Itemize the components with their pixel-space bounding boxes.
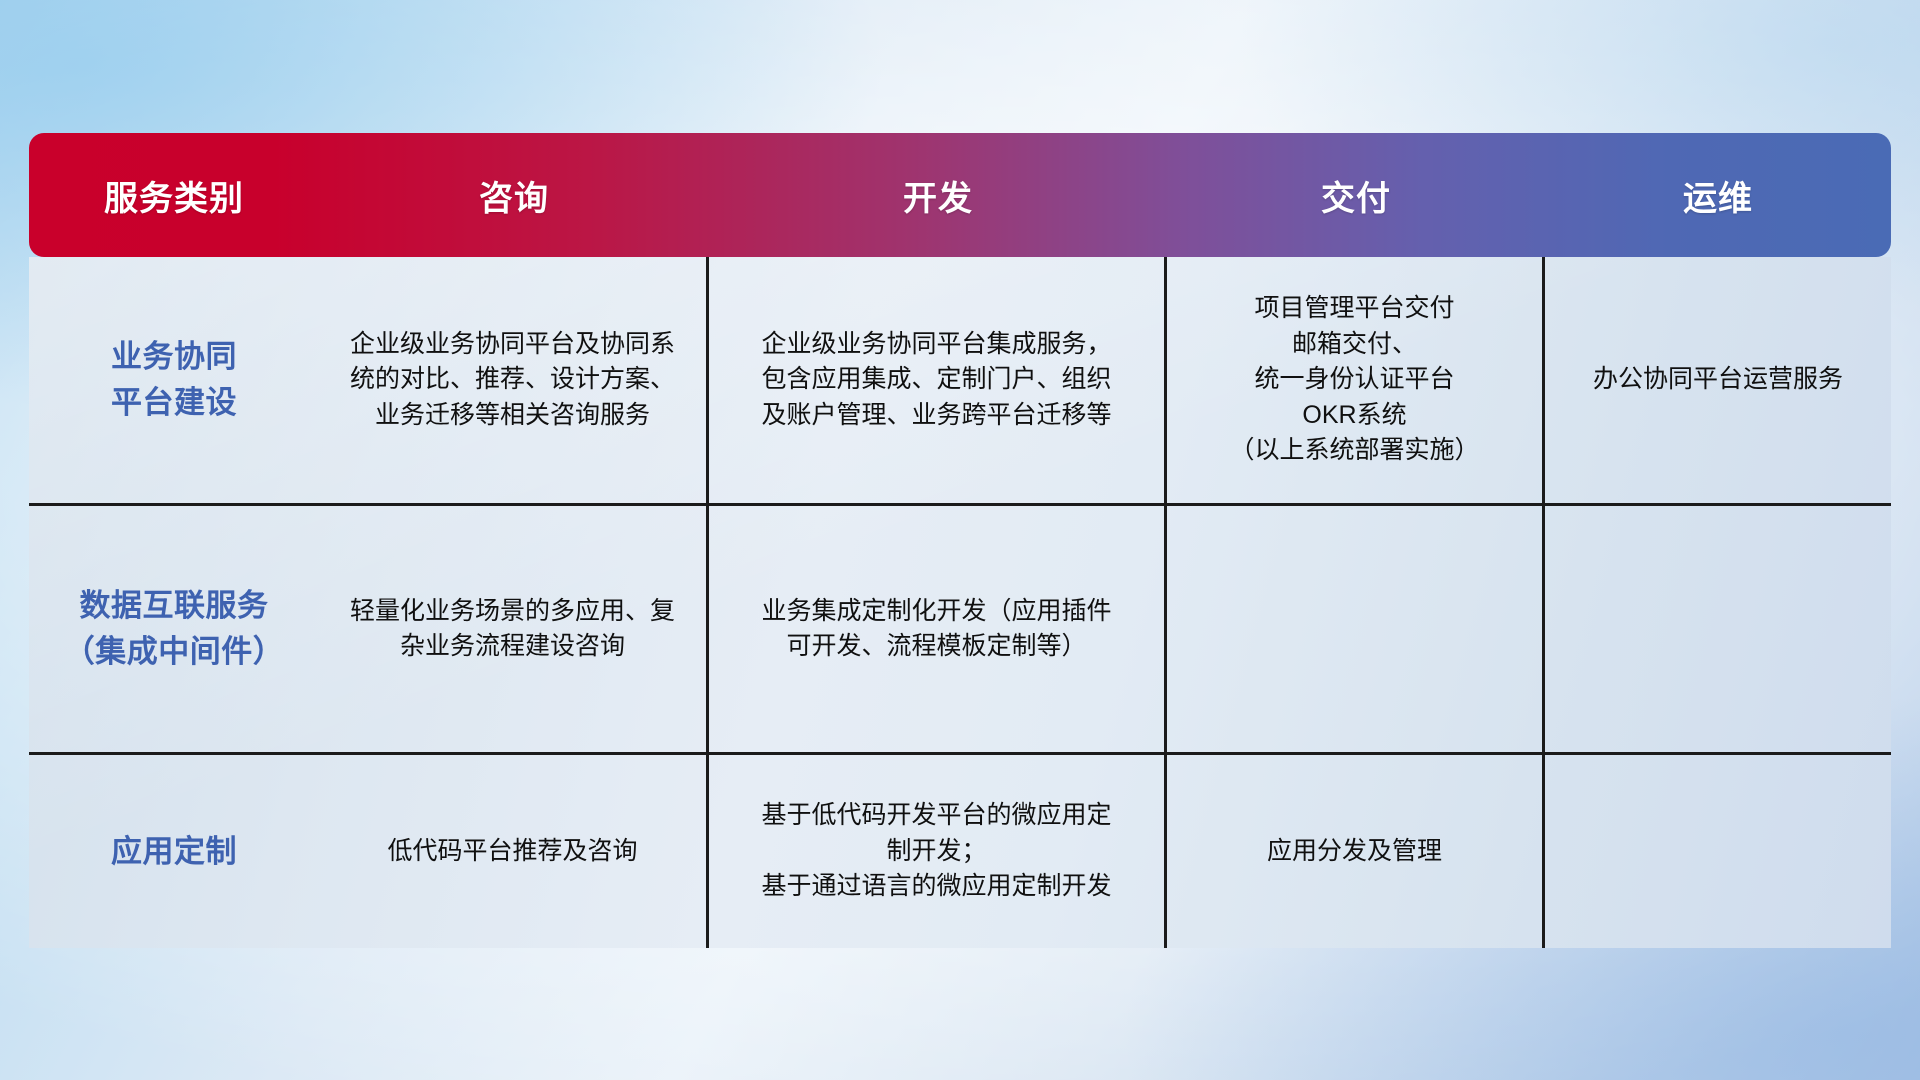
- row-label-cell: 应用定制: [29, 755, 319, 948]
- table-body: 业务协同 平台建设 企业级业务协同平台及协同系 统的对比、推荐、设计方案、 业务…: [29, 257, 1891, 948]
- cell-text: 低代码平台推荐及咨询: [387, 834, 637, 870]
- row-label-text: 业务协同 平台建设: [111, 334, 237, 426]
- cell-text: 办公协同平台运营服务: [1593, 362, 1843, 398]
- row-label-cell: 数据互联服务 （集成中间件）: [29, 506, 319, 752]
- cell-text: 业务集成定制化开发（应用插件 可开发、流程模板定制等）: [761, 594, 1111, 665]
- table-row: 业务协同 平台建设 企业级业务协同平台及协同系 统的对比、推荐、设计方案、 业务…: [29, 257, 1891, 506]
- cell-consulting: 企业级业务协同平台及协同系 统的对比、推荐、设计方案、 业务迁移等相关咨询服务: [319, 257, 709, 503]
- cell-development: 企业级业务协同平台集成服务， 包含应用集成、定制门户、组织 及账户管理、业务跨平…: [709, 257, 1167, 503]
- cell-text: 轻量化业务场景的多应用、复 杂业务流程建设咨询: [350, 594, 675, 665]
- cell-consulting: 低代码平台推荐及咨询: [319, 755, 709, 948]
- row-label-text: 数据互联服务 （集成中间件）: [64, 583, 285, 675]
- table-row: 应用定制 低代码平台推荐及咨询 基于低代码开发平台的微应用定 制开发； 基于通过…: [29, 755, 1891, 948]
- cell-delivery: 应用分发及管理: [1167, 755, 1545, 948]
- row-label-text: 应用定制: [111, 829, 237, 875]
- cell-consulting: 轻量化业务场景的多应用、复 杂业务流程建设咨询: [319, 506, 709, 752]
- cell-development: 业务集成定制化开发（应用插件 可开发、流程模板定制等）: [709, 506, 1167, 752]
- services-matrix-table: 服务类别 咨询 开发 交付 运维 业务协同 平台建设 企业级业务协同平台及协同系…: [29, 133, 1891, 948]
- column-header-development: 开发: [709, 171, 1167, 220]
- cell-text: 基于低代码开发平台的微应用定 制开发； 基于通过语言的微应用定制开发: [761, 798, 1111, 905]
- cell-development: 基于低代码开发平台的微应用定 制开发； 基于通过语言的微应用定制开发: [709, 755, 1167, 948]
- column-header-consulting: 咨询: [319, 171, 709, 220]
- cell-operations: 办公协同平台运营服务: [1545, 257, 1891, 503]
- cell-text: 应用分发及管理: [1267, 834, 1442, 870]
- table-row: 数据互联服务 （集成中间件） 轻量化业务场景的多应用、复 杂业务流程建设咨询 业…: [29, 506, 1891, 755]
- cell-text: 企业级业务协同平台集成服务， 包含应用集成、定制门户、组织 及账户管理、业务跨平…: [761, 327, 1111, 434]
- cell-operations: [1545, 506, 1891, 752]
- cell-delivery: [1167, 506, 1545, 752]
- cell-text: 项目管理平台交付 邮箱交付、 统一身份认证平台 OKR系统 （以上系统部署实施）: [1229, 291, 1479, 469]
- column-header-category: 服务类别: [29, 171, 319, 220]
- cell-operations: [1545, 755, 1891, 948]
- cell-delivery: 项目管理平台交付 邮箱交付、 统一身份认证平台 OKR系统 （以上系统部署实施）: [1167, 257, 1545, 503]
- column-header-delivery: 交付: [1167, 171, 1545, 220]
- row-label-cell: 业务协同 平台建设: [29, 257, 319, 503]
- column-header-operations: 运维: [1545, 171, 1891, 220]
- table-header-row: 服务类别 咨询 开发 交付 运维: [29, 133, 1891, 257]
- cell-text: 企业级业务协同平台及协同系 统的对比、推荐、设计方案、 业务迁移等相关咨询服务: [350, 327, 675, 434]
